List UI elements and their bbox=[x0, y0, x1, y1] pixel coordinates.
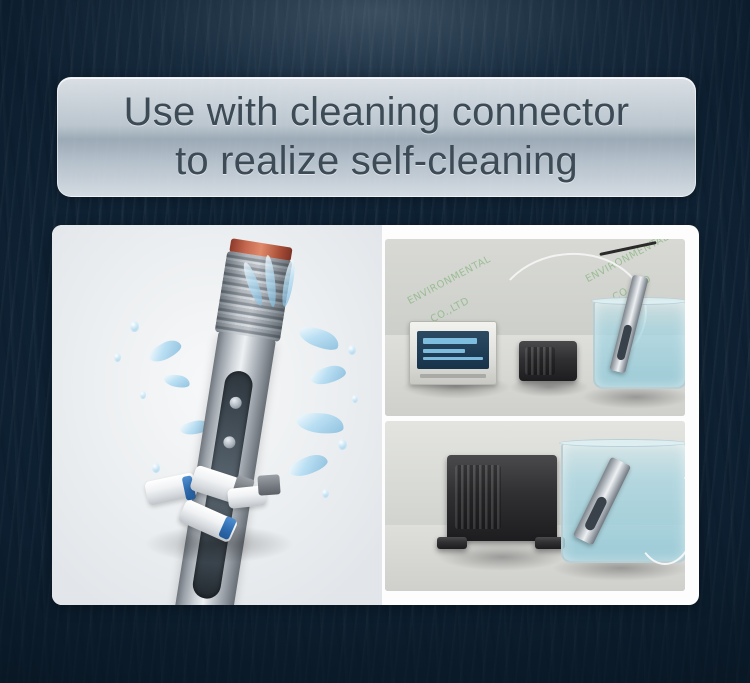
pump-foot-left bbox=[437, 537, 467, 549]
beaker-rim-bottom bbox=[559, 439, 685, 447]
splash-blob-right-3 bbox=[295, 410, 345, 436]
display-readout-line-2 bbox=[423, 349, 465, 353]
photo-controller-pump-beaker: ENVIRONMENTAL CO.,LTD ENVIRONMENTAL CO.,… bbox=[385, 239, 685, 416]
sensor-cable-top bbox=[599, 241, 656, 256]
probe-optical-lens-1 bbox=[229, 396, 243, 410]
watermark-text-1: ENVIRONMENTAL bbox=[406, 254, 493, 307]
display-readout-line-1 bbox=[423, 338, 477, 344]
pump-cooling-fins-bottom bbox=[455, 465, 501, 529]
water-droplet-8 bbox=[322, 489, 329, 498]
headline-line-1: Use with cleaning connector bbox=[124, 88, 630, 137]
water-droplet-2 bbox=[114, 353, 121, 362]
splash-blob-right-4 bbox=[286, 451, 329, 480]
page-root: Use with cleaning connector to realize s… bbox=[0, 0, 750, 683]
water-droplet-1 bbox=[130, 321, 139, 332]
air-pump-top bbox=[519, 341, 577, 381]
controller-display bbox=[417, 331, 489, 369]
diaphragm-pump-bottom bbox=[447, 455, 557, 541]
controller-button-row[interactable] bbox=[420, 374, 486, 378]
photo-self-cleaning-probe bbox=[52, 225, 382, 605]
splash-blob-left-1 bbox=[146, 337, 184, 366]
connector-nut-2 bbox=[257, 474, 280, 495]
splash-blob-right-2 bbox=[309, 363, 348, 387]
photo-pump-probe-closeup bbox=[385, 421, 685, 591]
water-droplet-4 bbox=[152, 463, 160, 473]
pump-cooling-fins-top bbox=[525, 347, 555, 375]
display-readout-line-3 bbox=[423, 357, 483, 360]
water-droplet-5 bbox=[348, 345, 356, 355]
water-droplet-6 bbox=[352, 395, 358, 403]
splash-blob-left-2 bbox=[163, 372, 191, 389]
probe-optical-lens-2 bbox=[223, 435, 237, 449]
content-card: ENVIRONMENTAL CO.,LTD ENVIRONMENTAL CO.,… bbox=[52, 225, 699, 605]
water-droplet-3 bbox=[140, 391, 146, 399]
water-droplet-7 bbox=[338, 439, 347, 450]
splash-blob-right-1 bbox=[296, 322, 342, 354]
headline-line-2: to realize self-cleaning bbox=[175, 137, 578, 186]
water-quality-controller bbox=[409, 321, 497, 385]
headline-plaque: Use with cleaning connector to realize s… bbox=[57, 77, 696, 197]
